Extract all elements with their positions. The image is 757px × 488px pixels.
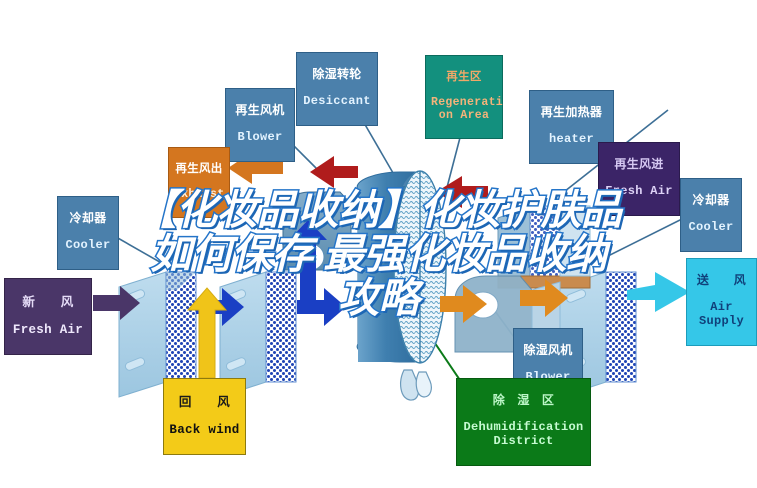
label-regeneration-blower-cn: 再生风机 (231, 104, 289, 117)
label-regeneration-heater-cn: 再生加热器 (535, 106, 608, 119)
overlay-headline: 【化妆品收纳】化妆护肤品 如何保存 最强化妆品收纳 攻略 (0, 188, 757, 320)
label-dehumidification-district-en: Dehumidification District (462, 421, 585, 448)
label-regeneration-area-cn: 再生区 (431, 71, 497, 84)
label-back-wind-en: Back wind (169, 423, 240, 437)
overlay-headline-line-1: 【化妆品收纳】化妆护肤品 (8, 188, 749, 232)
label-desiccant-rotor-en: Desiccant (302, 95, 372, 108)
label-regeneration-fresh-air-cn: 再生风进 (604, 158, 674, 171)
label-regeneration-area-en: Regenerati on Area (431, 97, 497, 123)
condensate-drip (401, 370, 432, 400)
schematic-canvas: XT (0, 0, 757, 488)
label-desiccant-rotor-cn: 除湿转轮 (302, 68, 372, 81)
label-regeneration-exhaust-cn: 再生风出 (174, 163, 224, 176)
label-desiccant-rotor: 除湿转轮 Desiccant (296, 52, 378, 126)
label-dehumidification-blower-cn: 除湿风机 (519, 344, 577, 357)
label-fresh-air-inlet-en: Fresh Air (10, 323, 86, 337)
arrow-regen-air-through (310, 156, 358, 188)
label-regeneration-blower-en: Blower (231, 131, 289, 144)
label-regeneration-area: 再生区 Regenerati on Area (425, 55, 503, 139)
overlay-headline-line-3: 攻略 (8, 276, 749, 320)
label-regeneration-blower: 再生风机 Blower (225, 88, 295, 162)
label-dehumidification-district-cn: 除 湿 区 (462, 394, 585, 407)
overlay-headline-line-2: 如何保存 最强化妆品收纳 (8, 232, 749, 276)
label-dehumidification-district: 除 湿 区 Dehumidification District (456, 378, 591, 466)
label-back-wind: 回 风 Back wind (163, 378, 246, 455)
label-back-wind-cn: 回 风 (169, 395, 240, 409)
